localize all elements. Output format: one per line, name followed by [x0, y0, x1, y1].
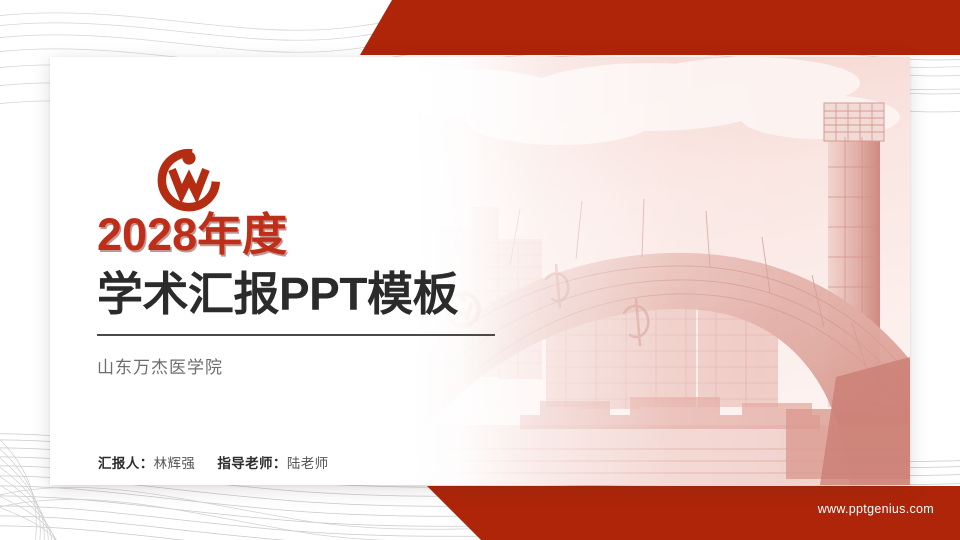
- title-year: 2028年度: [97, 212, 495, 258]
- reporter-name: 林辉强: [154, 452, 196, 472]
- school-name: 山东万杰医学院: [97, 353, 495, 378]
- footer-url[interactable]: www.pptgenius.com: [818, 502, 934, 516]
- content-card: 2028年度 学术汇报PPT模板 山东万杰医学院 汇报人： 林辉强 指导老师： …: [50, 57, 910, 485]
- advisor-name: 陆老师: [287, 452, 329, 472]
- title-main: 学术汇报PPT模板: [97, 270, 495, 318]
- title-divider: [97, 334, 495, 336]
- title-block: 2028年度 学术汇报PPT模板 山东万杰医学院: [97, 212, 495, 378]
- presenter-row: 汇报人： 林辉强 指导老师： 陆老师: [98, 452, 329, 472]
- advisor-label: 指导老师：: [217, 452, 287, 472]
- university-emblem-icon: [150, 145, 228, 215]
- presentation-slide: 2028年度 学术汇报PPT模板 山东万杰医学院 汇报人： 林辉强 指导老师： …: [0, 0, 960, 540]
- reporter-label: 汇报人：: [98, 452, 154, 472]
